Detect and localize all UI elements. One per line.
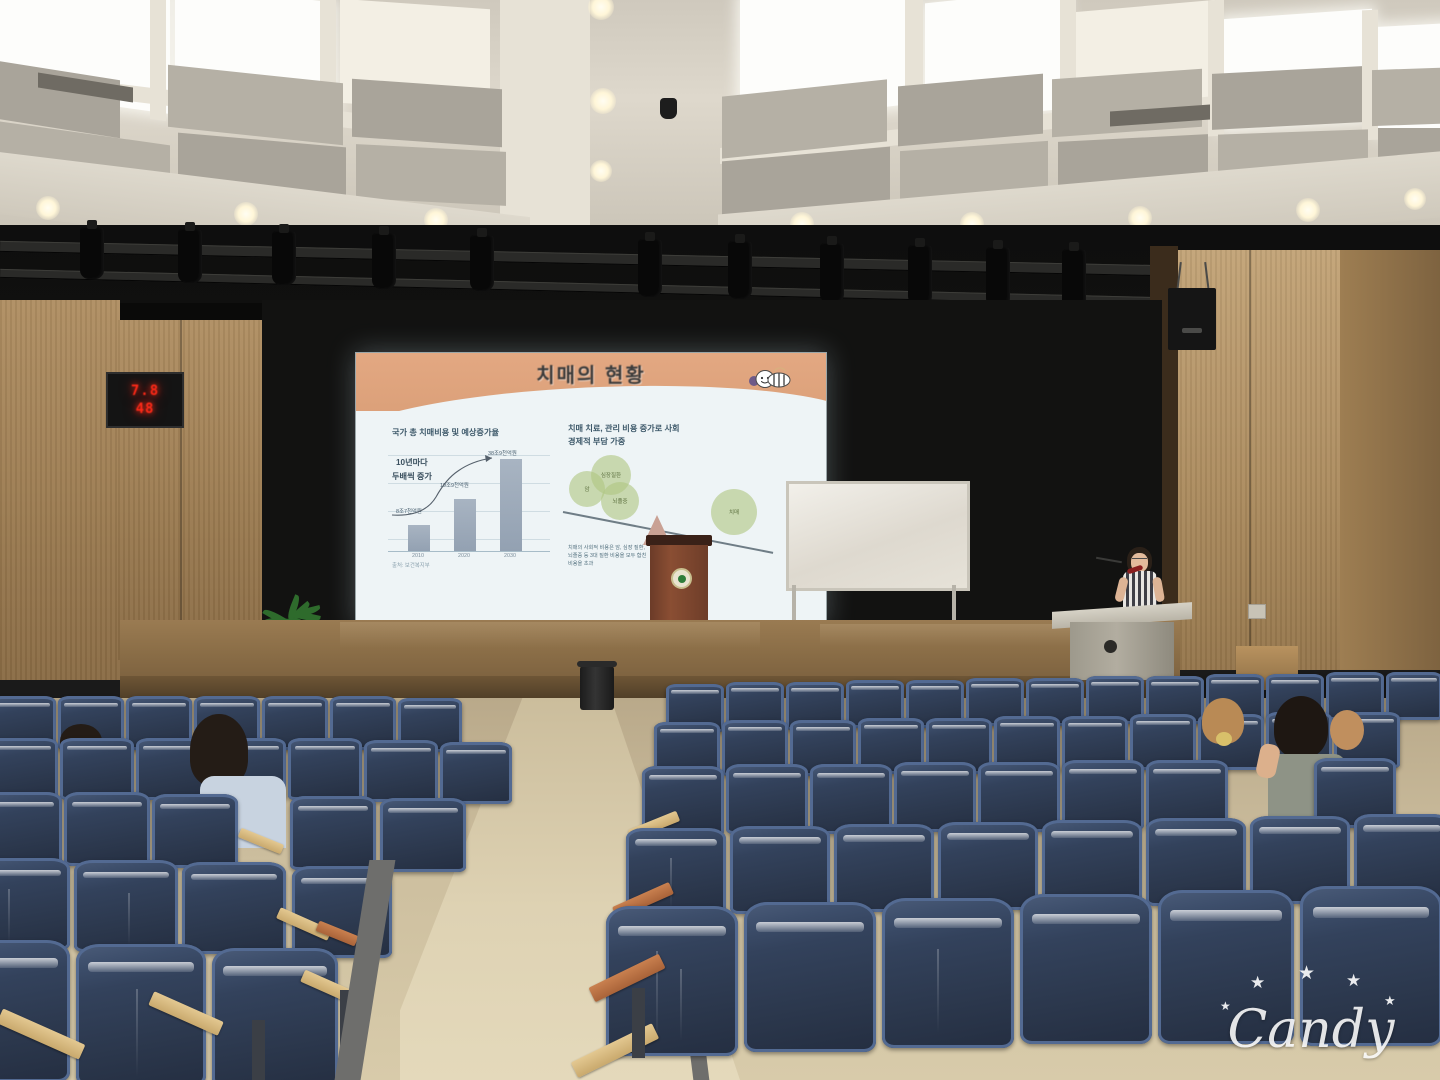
seat[interactable] [1158, 890, 1294, 1044]
seat[interactable] [64, 792, 150, 866]
downlight [234, 202, 258, 226]
hair-tie [1216, 732, 1232, 746]
footnote-line2: 뇌졸중 등 3대 질환 비용을 모두 합친 [568, 553, 646, 561]
seat[interactable] [440, 742, 512, 804]
right-heading-line2: 경제적 부담 가중 [568, 436, 625, 447]
attendee-right-dark-head [1274, 696, 1328, 758]
lectern [1052, 607, 1192, 679]
chart-source-note: 출처: 보건복지부 [392, 561, 430, 569]
wall-outlet [1248, 604, 1266, 619]
circle-stroke: 뇌졸중 [601, 482, 639, 520]
seat[interactable] [212, 948, 338, 1080]
chart-callout-line2: 두배씩 증가 [392, 471, 432, 482]
footnote-line1: 치매의 사회적 비용은 암, 심장 질환, [568, 545, 645, 553]
downlight [36, 196, 60, 220]
seat[interactable] [152, 794, 238, 868]
downlight [590, 160, 612, 182]
seat[interactable] [0, 858, 70, 950]
seat[interactable] [74, 860, 178, 952]
left-wood-wall-2 [118, 320, 268, 660]
seat[interactable] [0, 792, 62, 866]
chart-callout-line1: 10년마다 [396, 457, 428, 468]
bee-mascot-icon [746, 367, 792, 393]
downlight [588, 0, 614, 20]
left-wood-wall [0, 300, 120, 680]
seat-block-right [640, 670, 1440, 1080]
wall-speaker [1168, 288, 1216, 350]
whiteboard [786, 481, 970, 591]
seat[interactable] [744, 902, 876, 1052]
seat[interactable] [364, 740, 438, 802]
trash-can [580, 666, 614, 710]
circle-dementia: 치매 [711, 489, 757, 535]
right-wall-far [1340, 250, 1440, 670]
downlight [1296, 198, 1320, 222]
footnote-line3: 비용을 초과 [568, 561, 593, 569]
seat[interactable] [60, 738, 134, 800]
seat[interactable] [0, 940, 70, 1080]
seat[interactable] [730, 826, 830, 914]
seat[interactable] [0, 738, 58, 800]
downlight [590, 88, 616, 114]
seat[interactable] [290, 796, 376, 870]
downlight [1404, 188, 1426, 210]
chart-heading: 국가 총 치매비용 및 예상증가율 [392, 427, 499, 438]
ceiling [0, 0, 1440, 245]
auditorium-photo: 7.8 48 치매의 현황 국가 총 치매비용 및 예상증가율 [0, 0, 1440, 1080]
security-camera-icon [660, 98, 677, 119]
seat[interactable] [1300, 886, 1440, 1046]
led-display: 7.8 48 [106, 372, 184, 428]
seat[interactable] [182, 862, 286, 954]
attendee-right-third-head [1330, 710, 1364, 750]
seat-block-left [0, 690, 540, 1080]
seat[interactable] [1020, 894, 1152, 1044]
podium-emblem-icon [671, 568, 692, 589]
seat[interactable] [288, 738, 362, 800]
led-line-1: 7.8 [131, 383, 159, 399]
right-heading-line1: 치매 치료, 관리 비용 증가로 사회 [568, 423, 680, 434]
seat[interactable] [882, 898, 1014, 1048]
projection-screen: 치매의 현황 국가 총 치매비용 및 예상증가율 8조7천억원 19조9천억원 … [355, 352, 827, 626]
led-line-2: 48 [136, 401, 155, 417]
seat[interactable] [726, 764, 808, 834]
